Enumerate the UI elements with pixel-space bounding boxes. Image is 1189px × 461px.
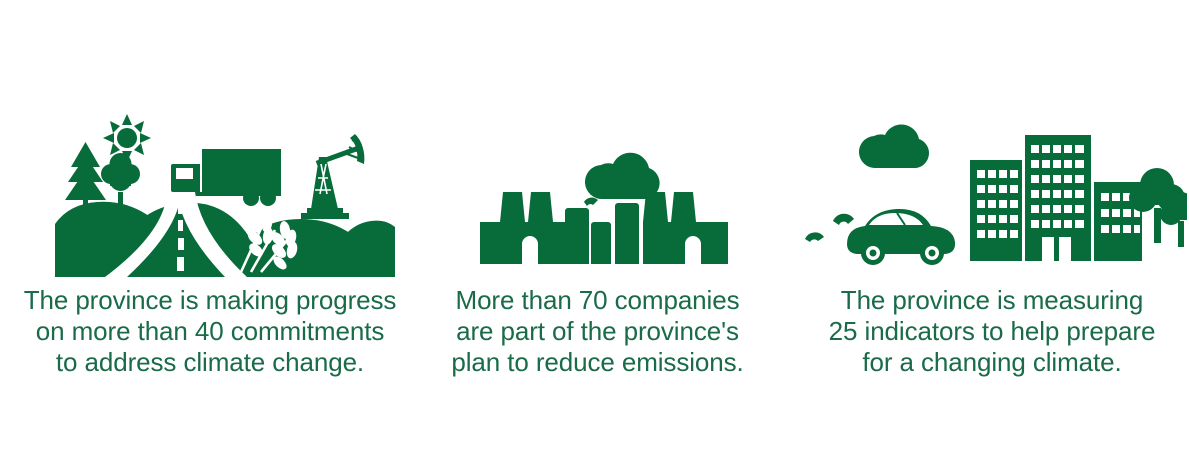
pine-tree-icon [65, 142, 106, 212]
factory-emissions-icon [458, 122, 738, 270]
cloud-icon [859, 125, 929, 169]
rural-landscape-icon [55, 112, 395, 277]
exhaust-puffs-icon [805, 214, 854, 242]
car-icon [847, 209, 955, 265]
factory-right [643, 192, 728, 264]
panel-climate-indicators: The province is measuring 25 indicators … [795, 0, 1189, 461]
oil-pumpjack-icon [301, 134, 364, 219]
factory-left [480, 192, 565, 264]
city-climate-icon [797, 113, 1187, 273]
building-left [970, 160, 1022, 261]
panel-climate-progress: The province is making progress on more … [0, 0, 420, 461]
panel-company-participation: More than 70 companies are part of the p… [425, 0, 770, 461]
sun-icon [103, 114, 151, 162]
panel-caption: The province is making progress on more … [0, 285, 420, 378]
climate-infographic: The province is making progress on more … [0, 0, 1189, 461]
panel-caption: The province is measuring 25 indicators … [795, 285, 1189, 378]
building-center [1025, 135, 1091, 261]
panel-caption: More than 70 companies are part of the p… [425, 285, 770, 378]
